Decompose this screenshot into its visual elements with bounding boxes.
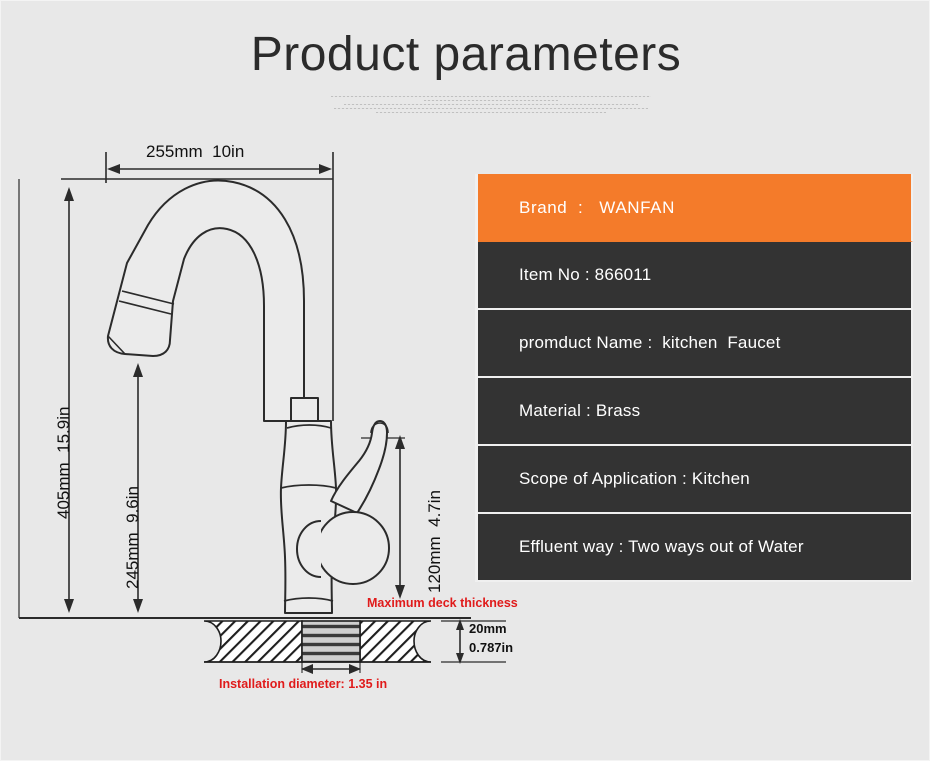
annotation-deck-thickness: Maximum deck thickness [367,596,518,610]
arrow-down [133,599,143,613]
arrow-up [133,363,143,377]
spec-row-brand: Brand : WANFAN [478,174,913,242]
deck-slab-right [360,621,431,662]
arrow-down [64,599,74,613]
spec-row-text: Brand : WANFAN [519,198,675,218]
dim-label-deck-thickness-in: 0.787in [469,640,513,657]
faucet-handle-lever [331,421,387,513]
spec-row-text: promduct Name : kitchen Faucet [519,333,781,353]
faucet-handle-hub [317,512,389,584]
spec-row-text: Scope of Application : Kitchen [519,469,750,489]
arrow-right [349,664,361,674]
faucet-outline [108,180,389,613]
arrow-left [107,164,120,174]
spec-row-text: Effluent way : Two ways out of Water [519,537,804,557]
arrow-left [301,664,313,674]
spec-row-text: Material : Brass [519,401,640,421]
dim-label-spout-reach: 255mm 10in [146,142,244,162]
spec-table: Brand : WANFAN Item No : 866011 promduct… [475,174,913,582]
spec-row-effluent-way: Effluent way : Two ways out of Water [478,514,913,582]
spec-row-material: Material : Brass [478,378,913,446]
spec-row-text: Item No : 866011 [519,265,651,285]
faucet-neck-collar [291,398,318,421]
product-parameters-page: Product parameters [0,0,930,761]
arrow-right [319,164,332,174]
annotation-installation-diameter: Installation diameter: 1.35 in [219,677,387,691]
deck-slab-left [204,621,302,662]
arrow-up [64,187,74,201]
dim-label-spout-height: 245mm 9.6in [123,486,143,589]
spec-row-item-no: Item No : 866011 [478,242,913,310]
arrow-up [395,435,405,449]
faucet-body [281,421,336,613]
dim-label-deck-thickness-mm: 20mm [469,621,507,638]
deck-mounting-hole [302,621,360,662]
spec-row-product-name: promduct Name : kitchen Faucet [478,310,913,378]
dim-label-handle-height: 120mm 4.7in [425,490,445,593]
dim-label-total-height: 405mm 15.9in [54,407,74,519]
counter-deck [204,621,431,662]
spec-row-scope-of-application: Scope of Application : Kitchen [478,446,913,514]
